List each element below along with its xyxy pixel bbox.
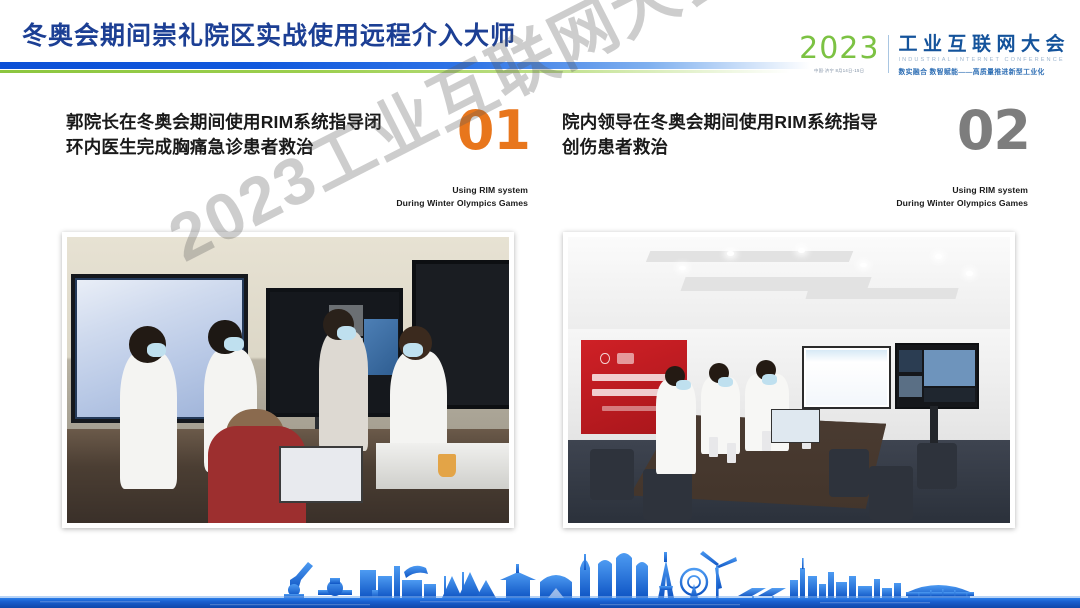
photo-02-laptop xyxy=(771,409,820,443)
panel-01-subtitle: Using RIM system During Winter Olympics … xyxy=(278,184,528,210)
panel-01-number: 01 xyxy=(457,104,530,158)
photo-02-chair xyxy=(917,443,957,489)
photo-02-ceiling-light xyxy=(966,271,973,276)
photo-02-banner-text-line xyxy=(602,406,657,411)
photo-02-banner-emblem xyxy=(617,353,634,364)
logo-year-block: 2023 中国·济宁 8月14日-15日 xyxy=(799,33,879,74)
photo-02-water-bottle xyxy=(709,437,718,457)
photo-01-face-mask xyxy=(403,343,423,357)
photo-conference-room xyxy=(568,237,1010,523)
panel-02-head: 院内领导在冬奥会期间使用RIM系统指导创伤患者救治 02 xyxy=(562,110,1032,172)
photo-02-ceiling-light xyxy=(679,266,686,271)
logo-divider xyxy=(888,35,889,73)
logo-name-en: INDUSTRIAL INTERNET CONFERENCE xyxy=(898,57,1070,63)
photo-02-water-bottle xyxy=(727,443,736,463)
panel-01: 郭院长在冬奥会期间使用RIM系统指导闭环内医生完成胸痛急诊患者救治 01 Usi… xyxy=(62,110,532,172)
skyline-graphic xyxy=(0,546,1080,608)
logo-year: 2023 xyxy=(799,34,879,64)
photo-02-chair xyxy=(590,449,634,500)
photo-02-video-tile xyxy=(924,350,974,386)
page-title: 冬奥会期间崇礼院区实战使用远程介入大师 xyxy=(22,16,516,52)
photo-02-ceiling-light xyxy=(798,248,805,253)
photo-01-face-mask xyxy=(224,337,244,351)
photo-01-cup xyxy=(438,454,456,477)
panel-01-heading: 郭院长在冬奥会期间使用RIM系统指导闭环内医生完成胸痛急诊患者救治 xyxy=(66,110,396,160)
photo-01-video-tile xyxy=(364,319,398,375)
logo-tagline: 数实融合 数智赋能——高质量推进新型工业化 xyxy=(898,66,1070,76)
panel-02: 院内领导在冬奥会期间使用RIM系统指导创伤患者救治 02 Using RIM s… xyxy=(562,110,1032,172)
photo-01-face-mask xyxy=(147,343,167,357)
photo-02-chair xyxy=(643,469,692,520)
panel-02-subtitle-line2: During Winter Olympics Games xyxy=(778,197,1028,210)
logo-year-subtitle: 中国·济宁 8月14日-15日 xyxy=(814,68,864,74)
photo-02-ceiling-light xyxy=(935,254,942,259)
photo-02-water-bottle xyxy=(762,431,771,451)
photo-01-person xyxy=(319,331,368,451)
photo-01-person xyxy=(120,351,177,488)
photo-02-ceiling-beam xyxy=(805,288,959,299)
photo-02-display-left xyxy=(802,346,890,409)
panel-02-number: 02 xyxy=(957,104,1030,158)
photo-02-banner-emblem xyxy=(600,353,610,364)
header-rule-green xyxy=(0,70,790,73)
photo-02-chair xyxy=(869,466,913,520)
logo-text-block: 工业互联网大会 INDUSTRIAL INTERNET CONFERENCE 数… xyxy=(898,33,1070,76)
header-rule-blue xyxy=(0,62,810,69)
panel-02-subtitle: Using RIM system During Winter Olympics … xyxy=(778,184,1028,210)
photo-02-display-right xyxy=(895,343,979,409)
photo-telemedicine-room xyxy=(67,237,509,523)
panel-02-heading: 院内领导在冬奥会期间使用RIM系统指导创伤患者救治 xyxy=(562,110,892,160)
photo-02-face-mask xyxy=(718,377,733,387)
photo-02-chair xyxy=(829,449,869,498)
photo-frame-02 xyxy=(563,232,1015,528)
photo-02-face-mask xyxy=(762,374,777,384)
photo-02-video-tile xyxy=(899,350,921,372)
panel-01-head: 郭院长在冬奥会期间使用RIM系统指导闭环内医生完成胸痛急诊患者救治 01 xyxy=(62,110,532,172)
panel-01-subtitle-line1: Using RIM system xyxy=(278,184,528,197)
panel-02-subtitle-line1: Using RIM system xyxy=(778,184,1028,197)
logo-name-cn: 工业互联网大会 xyxy=(898,35,1070,54)
photo-02-doctor xyxy=(656,380,696,474)
photo-02-display-stand xyxy=(930,406,937,446)
conference-logo: 2023 中国·济宁 8月14日-15日 工业互联网大会 INDUSTRIAL … xyxy=(799,33,1070,76)
footer-skyline xyxy=(0,546,1080,608)
photo-frame-01 xyxy=(62,232,514,528)
photo-02-ceiling-beam xyxy=(645,251,853,262)
photo-01-laptop xyxy=(279,446,363,503)
photo-02-video-tile xyxy=(899,376,921,397)
photo-02-ceiling-light xyxy=(727,251,734,256)
photo-01-face-mask xyxy=(337,326,357,340)
slide-root: 冬奥会期间崇礼院区实战使用远程介入大师 2023 中国·济宁 8月14日-15日… xyxy=(0,0,1080,608)
panel-01-subtitle-line2: During Winter Olympics Games xyxy=(278,197,528,210)
photo-02-video-tile xyxy=(924,388,974,402)
photo-02-ceiling-light xyxy=(860,263,867,268)
photo-02-face-mask xyxy=(676,380,691,390)
